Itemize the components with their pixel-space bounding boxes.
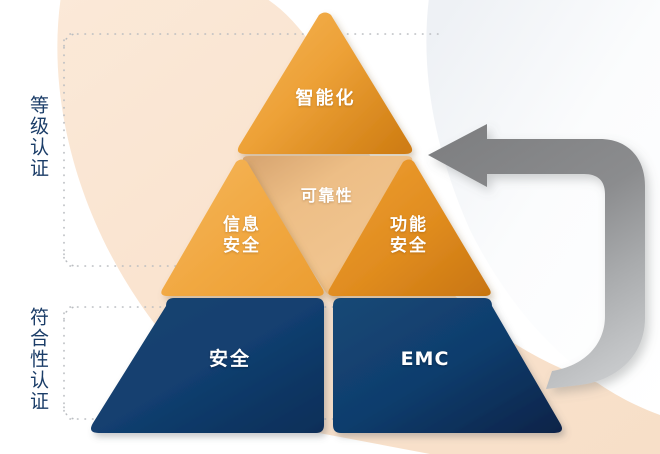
node-label-info-security: 信息 安全 [196,215,288,258]
node-label-functional-safety: 功能 安全 [363,215,455,258]
group-label-compliance-certification: 符合性认证 [27,307,47,412]
node-label-smart: 智能化 [258,88,393,111]
group-label-level-certification: 等级认证 [27,95,47,179]
node-label-emc: EMC [355,348,495,372]
node-label-safety: 安全 [160,348,300,372]
node-smart-shape [238,13,412,155]
pyramid-layer [0,0,660,454]
node-label-reliability: 可靠性 [272,186,382,206]
diagram-canvas: 等级认证 符合性认证 智能化 可靠性 信息 安全 功能 安全 安全 EMC [0,0,660,454]
